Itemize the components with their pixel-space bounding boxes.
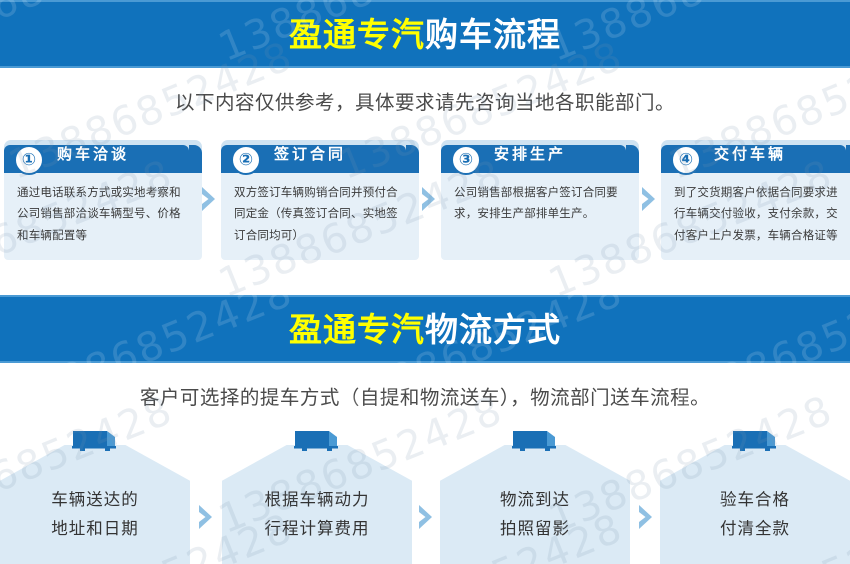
chevron-right-icon bbox=[639, 185, 659, 213]
card-body: 公司销售部根据客户签订合同要求，安排生产部排单生产。 bbox=[441, 173, 639, 260]
logistics-label-line2: 付清全款 bbox=[660, 515, 850, 544]
logistics-label-line1: 根据车辆动力 bbox=[222, 486, 412, 515]
truck-icon bbox=[69, 428, 121, 454]
card-body: 双方签订车辆购销合同并预付合同定金（传真签订合同、实地签订合同均可） bbox=[221, 173, 419, 260]
purchase-banner-heading: 购车流程 bbox=[425, 15, 561, 54]
step-title: 签订合同 bbox=[274, 140, 346, 168]
step-card-3: ③ 安排生产 公司销售部根据客户签订合同要求，安排生产部排单生产。 bbox=[441, 140, 639, 260]
purchase-banner-title: 盈通专汽购车流程 bbox=[289, 18, 561, 51]
chevron-right-icon bbox=[416, 503, 436, 531]
logistics-label-line2: 拍照留影 bbox=[440, 515, 630, 544]
purchase-process-banner: 盈通专汽购车流程 bbox=[0, 0, 850, 68]
logistics-item-3: 物流到达 拍照留影 bbox=[440, 428, 630, 564]
logistics-subtitle: 客户可选择的提车方式（自提和物流送车），物流部门送车流程。 bbox=[0, 381, 850, 410]
step-number-badge: ① bbox=[14, 145, 44, 175]
logistics-label: 根据车辆动力 行程计算费用 bbox=[222, 486, 412, 544]
step-title: 交付车辆 bbox=[714, 140, 786, 168]
step-title: 安排生产 bbox=[494, 140, 566, 168]
truck-icon bbox=[291, 428, 343, 454]
truck-icon bbox=[509, 428, 561, 454]
step-description: 通过电话联系方式或实地考察和公司销售部洽谈车辆型号、价格和车辆配置等 bbox=[17, 182, 189, 246]
logistics-item-2: 根据车辆动力 行程计算费用 bbox=[222, 428, 412, 564]
chevron-right-icon bbox=[419, 185, 439, 213]
promo-page: 盈通专汽购车流程 以下内容仅供参考，具体要求请先咨询当地各职能部门。 ① 购车洽… bbox=[0, 0, 850, 564]
logistics-item-4: 验车合格 付清全款 bbox=[660, 428, 850, 564]
logistics-label-line1: 车辆送达的 bbox=[0, 486, 190, 515]
logistics-banner-heading: 物流方式 bbox=[425, 310, 561, 349]
step-number-badge: ④ bbox=[671, 145, 701, 175]
step-number-badge: ② bbox=[231, 145, 261, 175]
logistics-label-line1: 验车合格 bbox=[660, 486, 850, 515]
chevron-right-icon bbox=[199, 185, 219, 213]
step-card-4: ④ 交付车辆 到了交货期客户依据合同要求进行车辆交付验收，支付余款，交付客户上户… bbox=[661, 140, 850, 260]
purchase-subtitle: 以下内容仅供参考，具体要求请先咨询当地各职能部门。 bbox=[0, 86, 850, 115]
step-description: 公司销售部根据客户签订合同要求，安排生产部排单生产。 bbox=[454, 182, 626, 225]
step-card-1: ① 购车洽谈 通过电话联系方式或实地考察和公司销售部洽谈车辆型号、价格和车辆配置… bbox=[4, 140, 202, 260]
card-body: 到了交货期客户依据合同要求进行车辆交付验收，支付余款，交付客户上户发票，车辆合格… bbox=[661, 173, 850, 260]
card-body: 通过电话联系方式或实地考察和公司销售部洽谈车辆型号、价格和车辆配置等 bbox=[4, 173, 202, 260]
step-card-2: ② 签订合同 双方签订车辆购销合同并预付合同定金（传真签订合同、实地签订合同均可… bbox=[221, 140, 419, 260]
chevron-right-icon bbox=[196, 503, 216, 531]
truck-icon bbox=[729, 428, 781, 454]
step-number-badge: ③ bbox=[451, 145, 481, 175]
logistics-label: 物流到达 拍照留影 bbox=[440, 486, 630, 544]
logistics-steps-row: 车辆送达的 地址和日期 根据车辆动力 行程计算费用 bbox=[0, 428, 850, 564]
logistics-label-line2: 行程计算费用 bbox=[222, 515, 412, 544]
logistics-label: 验车合格 付清全款 bbox=[660, 486, 850, 544]
step-description: 到了交货期客户依据合同要求进行车辆交付验收，支付余款，交付客户上户发票，车辆合格… bbox=[674, 182, 846, 246]
logistics-label: 车辆送达的 地址和日期 bbox=[0, 486, 190, 544]
brand-name-logistics: 盈通专汽 bbox=[289, 310, 425, 349]
step-description: 双方签订车辆购销合同并预付合同定金（传真签订合同、实地签订合同均可） bbox=[234, 182, 406, 246]
logistics-label-line1: 物流到达 bbox=[440, 486, 630, 515]
chevron-right-icon bbox=[636, 503, 656, 531]
logistics-label-line2: 地址和日期 bbox=[0, 515, 190, 544]
logistics-banner: 盈通专汽物流方式 bbox=[0, 295, 850, 363]
logistics-banner-title: 盈通专汽物流方式 bbox=[289, 313, 561, 346]
logistics-item-1: 车辆送达的 地址和日期 bbox=[0, 428, 190, 564]
step-title: 购车洽谈 bbox=[57, 140, 129, 168]
brand-name-purchase: 盈通专汽 bbox=[289, 15, 425, 54]
